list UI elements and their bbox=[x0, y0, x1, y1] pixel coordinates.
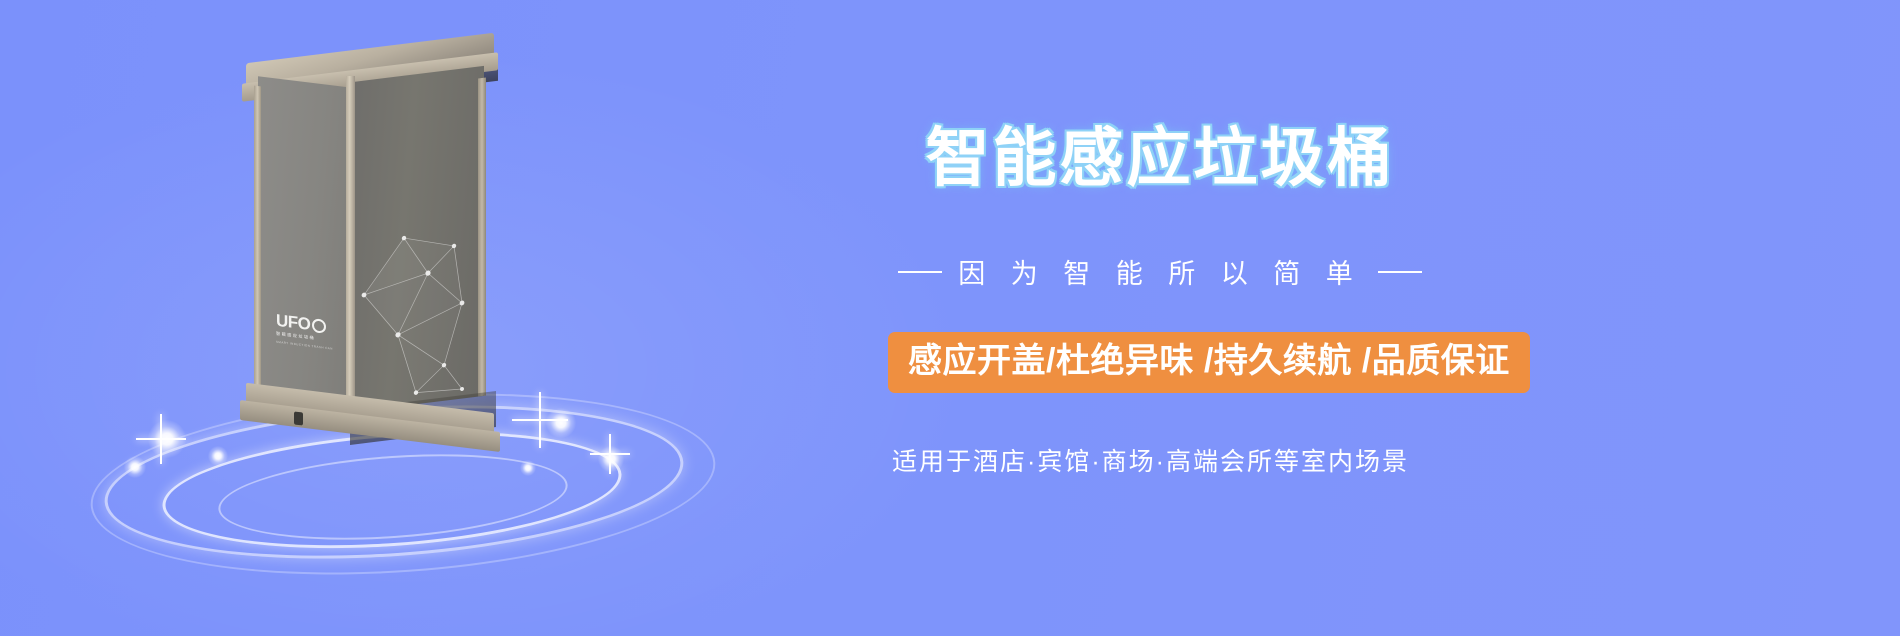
promo-banner: UFO 智能感应垃圾桶 SMART INDUCTION TRASH CAN 智能… bbox=[0, 0, 1900, 636]
product-logo-text: UFO bbox=[276, 312, 310, 333]
tagline: 因 为 智 能 所 以 简 单 bbox=[740, 252, 1580, 291]
body-edge-center bbox=[346, 76, 355, 408]
product-logo-ring-icon bbox=[312, 318, 326, 334]
product-stage: UFO 智能感应垃圾桶 SMART INDUCTION TRASH CAN bbox=[90, 30, 730, 590]
body-edge-left bbox=[254, 86, 261, 407]
headline: 智能感应垃圾桶 bbox=[880, 126, 1440, 190]
low-poly-network-graphic bbox=[358, 220, 484, 411]
product-trash-bin: UFO 智能感应垃圾桶 SMART INDUCTION TRASH CAN bbox=[240, 48, 500, 428]
tagline-rule-left bbox=[898, 271, 942, 273]
sensor-port-icon bbox=[294, 411, 303, 425]
feature-highlight-bar: 感应开盖/杜绝异味 /持久续航 /品质保证 bbox=[888, 332, 1530, 393]
use-case-line: 适用于酒店·宾馆·商场·高端会所等室内场景 bbox=[892, 442, 1409, 478]
copy-block: 智能感应垃圾桶 因 为 智 能 所 以 简 单 感应开盖/杜绝异味 /持久续航 … bbox=[880, 0, 1720, 636]
body-panel-left bbox=[258, 76, 352, 414]
tagline-text: 因 为 智 能 所 以 简 单 bbox=[958, 252, 1362, 291]
tagline-rule-right bbox=[1378, 271, 1422, 273]
